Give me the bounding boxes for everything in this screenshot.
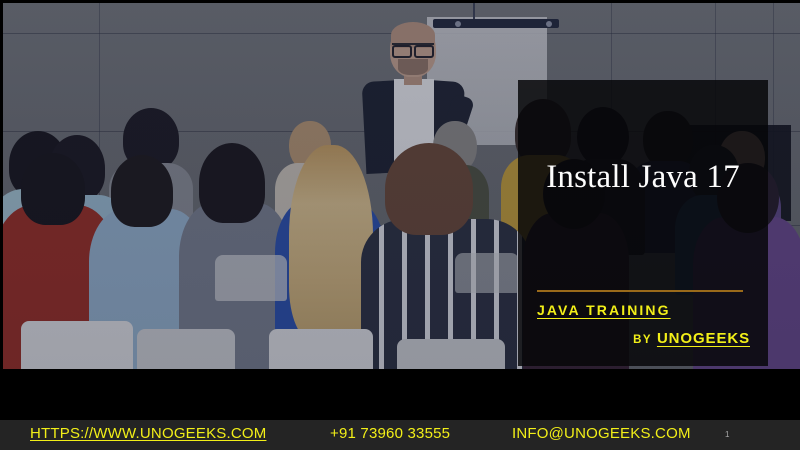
divider-line [537, 290, 743, 292]
course-subtitle: JAVA TRAINING [537, 302, 671, 318]
black-separator-band [0, 369, 800, 420]
audience-head [21, 153, 85, 225]
attribution: BYUNOGEEKS [633, 330, 750, 348]
chair [269, 329, 373, 369]
title-overlay-panel: Install Java 17 JAVA TRAINING BYUNOGEEKS [518, 80, 768, 366]
slide-page-number: 1 [725, 430, 729, 439]
brand-name: UNOGEEKS [657, 330, 750, 347]
phone-number: +91 73960 33555 [330, 425, 450, 442]
audience-head [199, 143, 265, 223]
website-link[interactable]: HTTPS://WWW.UNOGEEKS.COM [30, 425, 266, 442]
chair [21, 321, 133, 369]
page-title: Install Java 17 [532, 158, 754, 196]
presenter-beard [398, 59, 428, 75]
chair [215, 255, 287, 301]
presentation-slide: Install Java 17 JAVA TRAINING BYUNOGEEKS… [0, 0, 800, 450]
email-address: INFO@UNOGEEKS.COM [512, 425, 691, 442]
audience-head [385, 143, 473, 235]
attribution-prefix: BY [633, 334, 652, 346]
flipchart-knob [546, 21, 552, 27]
chair [455, 253, 519, 293]
flipchart-stem [473, 3, 475, 19]
chair [397, 339, 505, 369]
glasses-icon [392, 43, 434, 52]
chair [137, 329, 235, 369]
footer-bar: HTTPS://WWW.UNOGEEKS.COM +91 73960 33555… [0, 420, 800, 450]
audience-head [111, 155, 173, 227]
